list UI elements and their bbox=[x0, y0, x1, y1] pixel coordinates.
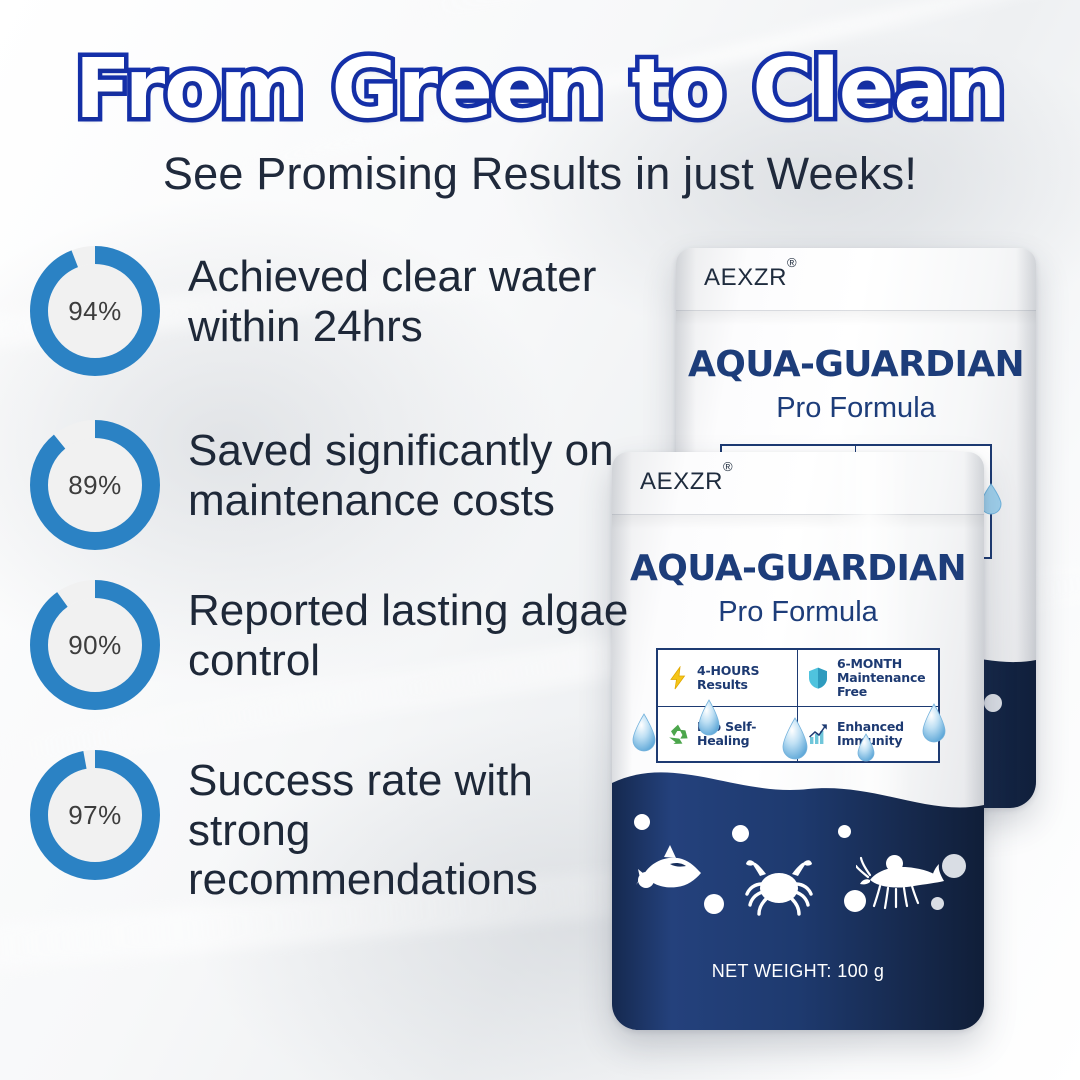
brand-logo: AEXZR® bbox=[704, 264, 797, 292]
feature-badge-text: Eco Self- Healing bbox=[697, 720, 756, 748]
net-weight-label: NET WEIGHT: 100 g bbox=[612, 961, 984, 982]
progress-ring-89: 89% bbox=[30, 420, 160, 550]
feature-badge-text: Enhanced Immunity bbox=[837, 720, 904, 748]
brand-name: AEXZR bbox=[704, 264, 787, 291]
stat-label: Reported lasting algae control bbox=[188, 580, 642, 685]
stats-list: 94% Achieved clear water within 24hrs 89… bbox=[22, 246, 642, 941]
stat-label: Saved significantly on maintenance costs bbox=[188, 420, 642, 525]
progress-ring-value: 97% bbox=[30, 750, 160, 880]
product-name: AQUA-GUARDIAN bbox=[676, 344, 1036, 385]
progress-ring-value: 94% bbox=[30, 246, 160, 376]
brand-logo: AEXZR® bbox=[640, 468, 733, 496]
product-packshot: AEXZR® AQUA-GUARDIAN Pro Formula 4-HOURS… bbox=[590, 230, 1060, 1050]
page-title: From Green to Clean bbox=[75, 48, 1005, 132]
progress-ring-90: 90% bbox=[30, 580, 160, 710]
registered-mark: ® bbox=[787, 255, 797, 270]
product-subtitle: Pro Formula bbox=[612, 596, 984, 629]
product-name: AQUA-GUARDIAN bbox=[612, 548, 984, 589]
stat-row: 94% Achieved clear water within 24hrs bbox=[22, 246, 642, 376]
stat-label: Achieved clear water within 24hrs bbox=[188, 246, 642, 351]
feature-badge-4-hours-results: 4-HOURS Results bbox=[658, 650, 798, 707]
page-subtitle: See Promising Results in just Weeks! bbox=[0, 148, 1080, 200]
feature-badge-text: 6-MONTH Maintenance Free bbox=[837, 657, 925, 699]
recycle-icon bbox=[666, 722, 690, 746]
pouch-wave-band bbox=[612, 745, 984, 1030]
feature-badge-6-month-maintenance-free: 6-MONTH Maintenance Free bbox=[798, 650, 938, 707]
registered-mark: ® bbox=[723, 459, 733, 474]
progress-ring-value: 90% bbox=[30, 580, 160, 710]
stat-row: 97% Success rate with strong recommendat… bbox=[22, 750, 642, 905]
product-pouch-front: AEXZR® AQUA-GUARDIAN Pro Formula 4-HOURS… bbox=[612, 452, 984, 1030]
headline-container: From Green to Clean bbox=[0, 48, 1080, 132]
lightning-bolt-icon bbox=[666, 666, 690, 690]
bar-chart-arrow-icon bbox=[806, 722, 830, 746]
progress-ring-value: 89% bbox=[30, 420, 160, 550]
shield-icon bbox=[806, 666, 830, 690]
feature-badge-text: 4-HOURS Results bbox=[697, 664, 759, 692]
stat-label: Success rate with strong recommendations bbox=[188, 750, 642, 905]
pouch-seam bbox=[676, 310, 1036, 325]
progress-ring-94: 94% bbox=[30, 246, 160, 376]
stat-row: 89% Saved significantly on maintenance c… bbox=[22, 420, 642, 550]
pouch-seam bbox=[612, 514, 984, 529]
stat-row: 90% Reported lasting algae control bbox=[22, 580, 642, 710]
product-subtitle: Pro Formula bbox=[676, 392, 1036, 425]
infographic-canvas: From Green to Clean See Promising Result… bbox=[0, 0, 1080, 1080]
brand-name: AEXZR bbox=[640, 468, 723, 495]
progress-ring-97: 97% bbox=[30, 750, 160, 880]
